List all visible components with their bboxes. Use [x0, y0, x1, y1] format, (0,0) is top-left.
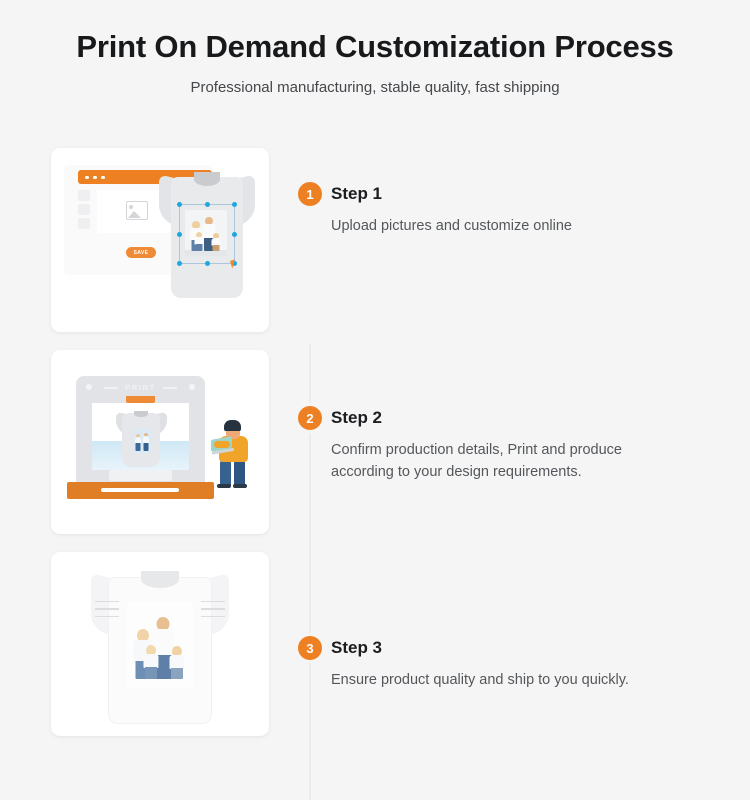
step-1-text: 1 Step 1 Upload pictures and customize o… — [298, 182, 738, 237]
figure-child-left — [142, 645, 159, 679]
resize-handle-icon[interactable] — [205, 202, 210, 207]
printing-machine: PRINT — [76, 376, 205, 496]
worker-shoe-left — [217, 484, 231, 488]
figure-legs — [135, 443, 140, 451]
family-photo-graphic — [133, 429, 151, 453]
worker-leg-right — [234, 460, 245, 486]
stripe — [95, 601, 118, 603]
finished-tshirt — [91, 566, 229, 724]
step-row-1: SAVE — [0, 148, 750, 332]
step-description-line: according to your design requirements. — [331, 461, 738, 483]
resize-handle-icon[interactable] — [232, 202, 237, 207]
sleeve-stripes-left — [95, 601, 118, 622]
figure-legs — [171, 668, 183, 679]
step-description: Upload pictures and customize online — [331, 215, 738, 237]
stripe — [201, 608, 224, 610]
figure-adult-right — [142, 433, 149, 451]
step-title: Step 2 — [331, 409, 382, 428]
machine-nozzle — [126, 396, 155, 403]
image-placeholder-icon — [126, 201, 148, 220]
page-subtitle: Professional manufacturing, stable quali… — [0, 79, 750, 97]
page-header: Print On Demand Customization Process Pr… — [0, 0, 750, 97]
window-dot-icon — [85, 176, 89, 180]
step-title: Step 3 — [331, 639, 382, 658]
figure-legs — [143, 443, 148, 451]
figure-child-right — [168, 646, 185, 679]
machine-knob-icon — [86, 384, 92, 390]
machine-label: PRINT — [81, 380, 200, 395]
figure-torso — [143, 654, 158, 668]
family-photo-graphic — [127, 602, 193, 688]
machine-base — [67, 482, 214, 499]
resize-handle-icon[interactable] — [177, 261, 182, 266]
stripe — [95, 608, 118, 610]
step-number-badge: 3 — [298, 636, 322, 660]
resize-handle-icon[interactable] — [177, 232, 182, 237]
machine-dash — [104, 387, 118, 389]
photo-selection-box[interactable] — [179, 204, 235, 264]
step-row-2: PRINT — [0, 350, 750, 534]
step-title: Step 1 — [331, 185, 382, 204]
sidebar-block — [78, 218, 90, 229]
figure-torso — [169, 655, 184, 669]
worker-arm — [214, 441, 230, 448]
step-description: Ensure product quality and ship to you q… — [331, 669, 738, 691]
page-title: Print On Demand Customization Process — [0, 28, 750, 65]
sidebar-block — [78, 204, 90, 215]
machine-tray — [109, 470, 172, 481]
sleeve-stripes-right — [201, 601, 224, 622]
tshirt-photo-print — [133, 429, 151, 453]
tshirt-preview — [159, 168, 255, 298]
step-description: Confirm production details, Print and pr… — [331, 439, 738, 483]
step-row-3: 3 Step 3 Ensure product quality and ship… — [0, 552, 750, 736]
step-2-heading: 2 Step 2 — [298, 406, 738, 430]
worker-shoe-right — [233, 484, 247, 488]
figure-adult-left — [134, 434, 141, 451]
step-3-heading: 3 Step 3 — [298, 636, 738, 660]
save-button[interactable]: SAVE — [126, 247, 156, 258]
stripe — [95, 616, 118, 618]
machine-dash — [163, 387, 177, 389]
step-3-text: 3 Step 3 Ensure product quality and ship… — [298, 636, 738, 691]
worker-leg-left — [220, 460, 231, 486]
resize-handle-icon[interactable] — [177, 202, 182, 207]
step-1-illustration-card: SAVE — [51, 148, 269, 332]
step-2-text: 2 Step 2 Confirm production details, Pri… — [298, 406, 738, 483]
stripe — [201, 616, 224, 618]
resize-handle-icon[interactable] — [232, 232, 237, 237]
machine-window — [92, 403, 189, 470]
figure-legs — [145, 667, 157, 679]
step-2-illustration-card: PRINT — [51, 350, 269, 534]
step-1-heading: 1 Step 1 — [298, 182, 738, 206]
tshirt-photo-print — [127, 602, 193, 688]
step-description-line: Ensure product quality and ship to you q… — [331, 669, 738, 691]
window-dot-icon — [93, 176, 97, 180]
step-3-illustration-card — [51, 552, 269, 736]
worker-with-laptop-icon — [213, 420, 257, 488]
step-description-line: Upload pictures and customize online — [331, 215, 738, 237]
stripe — [201, 601, 224, 603]
step-number-badge: 1 — [298, 182, 322, 206]
tshirt-in-printer — [116, 409, 166, 467]
resize-handle-icon[interactable] — [205, 261, 210, 266]
machine-knob-icon — [189, 384, 195, 390]
worker-hair — [224, 420, 241, 431]
window-dot-icon — [101, 176, 105, 180]
machine-output-slot — [101, 488, 179, 492]
step-description-line: Confirm production details, Print and pr… — [331, 439, 738, 461]
sidebar-block — [78, 190, 90, 201]
step-number-badge: 2 — [298, 406, 322, 430]
